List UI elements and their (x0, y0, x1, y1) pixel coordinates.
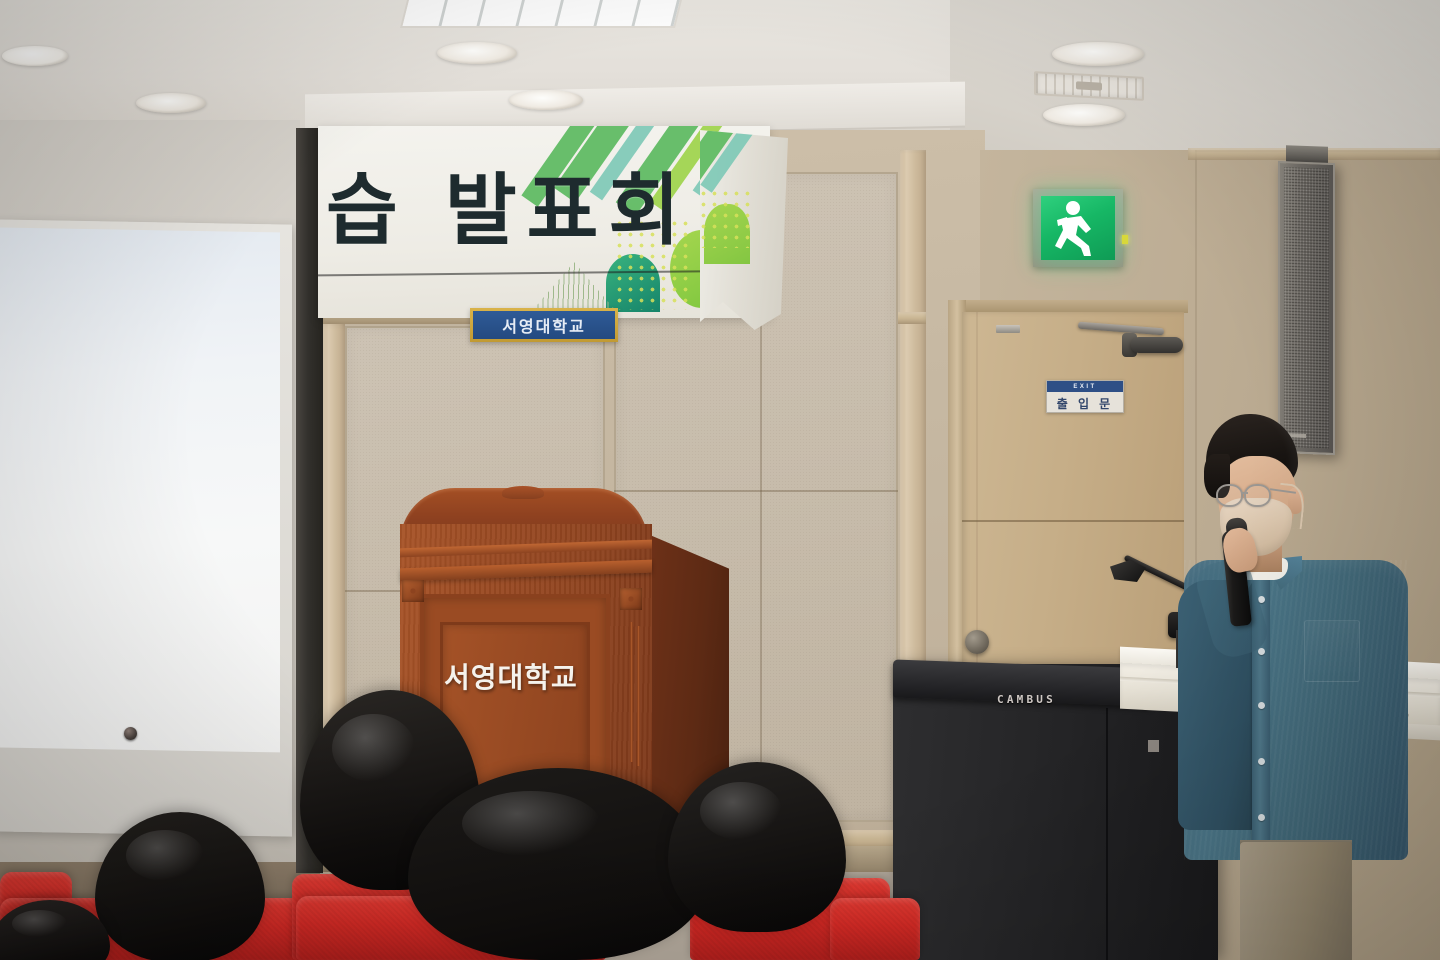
door-closer-icon (1131, 337, 1183, 353)
downlight-6-icon (1043, 104, 1125, 126)
downlight-1-icon (2, 46, 68, 66)
door-exit-plate: EXIT 출 입 문 (1046, 380, 1124, 413)
presenter (1178, 410, 1428, 960)
eyeglasses-right-lens-icon (1244, 484, 1271, 507)
door-knob-icon[interactable] (965, 630, 989, 654)
eyeglasses-left-lens-icon (1216, 484, 1243, 507)
lectern-logo-label: 서영대학교 (444, 656, 592, 696)
exit-sign-led-indicator (1122, 235, 1128, 244)
wall-name-sign-label: 서영대학교 (502, 313, 586, 337)
running-man-exit-icon (1051, 199, 1105, 257)
banner-headline: 습 발표회 (326, 148, 716, 260)
lectern-rosette-left (402, 580, 424, 602)
wall-name-sign: 서영대학교 (470, 308, 618, 342)
lectern-rosette-right (620, 588, 642, 610)
downlight-3-icon (437, 42, 517, 64)
presentation-hall-photo: 습 발표회 서영대학교 EXIT (0, 0, 1440, 960)
louvered-fluorescent-panel-icon (400, 0, 685, 28)
emergency-exit-sign (1033, 189, 1123, 267)
projection-screen-surface (0, 227, 280, 752)
av-rack-brand-label: CAMBUS (997, 693, 1056, 706)
projection-screen (0, 219, 292, 836)
door-strike-plate-icon (996, 325, 1020, 333)
banner-drape-fold (700, 130, 788, 330)
downlight-5-icon (1052, 42, 1144, 66)
cabinet-lock-icon[interactable] (124, 727, 137, 740)
downlight-2-icon (136, 93, 206, 113)
audience-chair-6[interactable] (830, 898, 920, 960)
presenter-trousers (1240, 842, 1352, 960)
shirt-pocket (1304, 620, 1360, 682)
downlight-4-icon (509, 90, 583, 110)
door-exit-plate-en-label: EXIT (1073, 384, 1096, 390)
door-exit-plate-kr-label: 출 입 문 (1057, 395, 1113, 412)
